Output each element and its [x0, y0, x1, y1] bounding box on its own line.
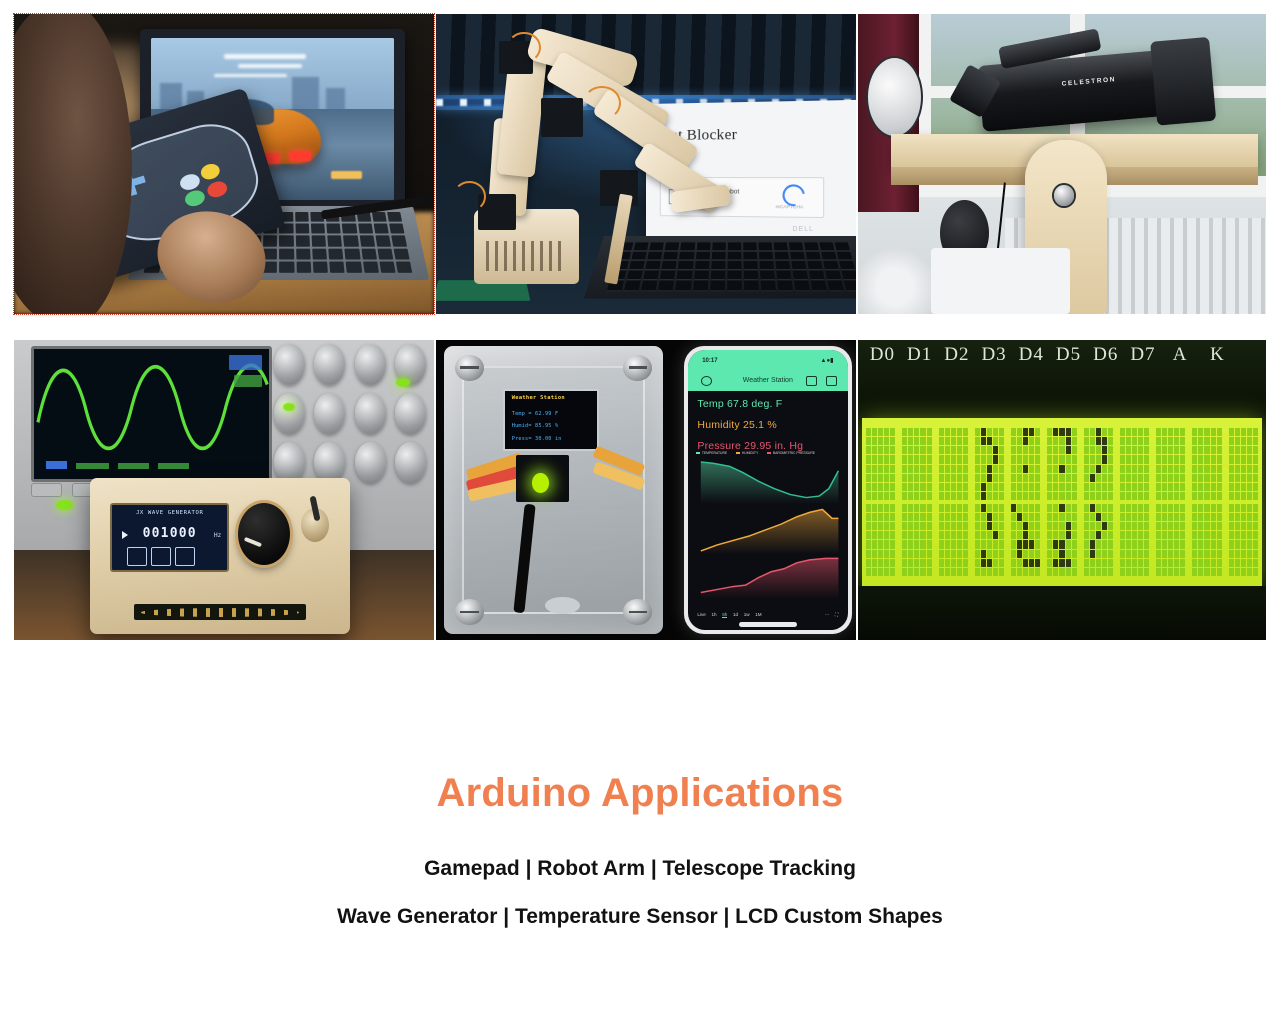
lcd-character	[1011, 428, 1040, 500]
weather-app-phone: 10:17 ▲●▮ Weather Station Temp 67.8	[684, 346, 852, 634]
ramp-wave-icon	[127, 547, 147, 566]
gallery-item-weather-station[interactable]: Weather Station Temp = 62.99 F Humid= 85…	[436, 340, 856, 640]
frequency-knob[interactable]	[238, 503, 290, 565]
sine-wave-icon	[199, 548, 217, 565]
lcd-character	[1156, 504, 1185, 576]
lcd-character	[1192, 504, 1221, 576]
lcd-title: JX WAVE GENERATOR	[112, 510, 227, 516]
gamepad-photo	[14, 14, 434, 314]
wave-generator-lcd: JX WAVE GENERATOR 001000 Hz	[110, 503, 229, 573]
weather-chart	[688, 456, 848, 604]
expand-icon[interactable]: ⛶	[835, 612, 838, 617]
lcd-frequency: 001000	[112, 526, 227, 541]
more-icon[interactable]: ⋯	[825, 612, 830, 618]
captcha-brand: reCAPTCHA	[766, 204, 812, 212]
oled-title: Weather Station	[512, 395, 565, 401]
lcd-character	[902, 504, 931, 576]
cast-icon[interactable]	[806, 376, 817, 386]
range-1d[interactable]: 1d	[733, 612, 738, 617]
home-indicator	[739, 622, 797, 626]
reading-pressure: Pressure 29.95 in. Hg	[697, 440, 803, 452]
robot-arm-photo: Bot Blocker I'm not a robot reCAPTCHA	[436, 14, 856, 314]
gallery-item-robot-arm[interactable]: Bot Blocker I'm not a robot reCAPTCHA	[436, 14, 856, 314]
lcd-custom-shapes-photo: D0 D1 D2 D3 D4 D5 D6 D7 A K	[858, 340, 1266, 640]
lcd-unit: Hz	[214, 532, 221, 539]
weather-oled: Weather Station Temp = 62.99 F Humid= 85…	[503, 389, 599, 451]
lcd-character	[902, 428, 931, 500]
photo-grid: Bot Blocker I'm not a robot reCAPTCHA	[14, 14, 1266, 640]
lcd-panel	[862, 418, 1262, 586]
pin-d1: D1	[903, 344, 936, 366]
gallery-item-lcd-shapes[interactable]: D0 D1 D2 D3 D4 D5 D6 D7 A K	[858, 340, 1266, 640]
lcd-character	[1047, 428, 1076, 500]
app-title: Weather Station	[743, 377, 793, 384]
toggle-switch[interactable]	[301, 508, 330, 542]
reading-humidity: Humidity 25.1 %	[697, 419, 777, 431]
lcd-character	[975, 428, 1004, 500]
back-icon[interactable]	[701, 376, 712, 386]
pin-d6: D6	[1089, 344, 1122, 366]
pin-k: K	[1201, 344, 1234, 366]
page-root: Bot Blocker I'm not a robot reCAPTCHA	[0, 0, 1280, 1024]
caption-block: Arduino Applications Gamepad | Robot Arm…	[0, 770, 1280, 927]
menu-icon[interactable]	[826, 376, 837, 386]
pin-d7: D7	[1127, 344, 1160, 366]
weather-station-photo: Weather Station Temp = 62.99 F Humid= 85…	[436, 340, 856, 640]
lcd-character	[1229, 504, 1258, 576]
caption-line-1: Gamepad | Robot Arm | Telescope Tracking	[0, 858, 1280, 879]
range-1h[interactable]: 1h	[711, 612, 716, 617]
oled-humidity: Humid= 85.95 %	[512, 423, 559, 429]
pin-a: A	[1164, 344, 1197, 366]
pin-d2: D2	[941, 344, 974, 366]
lcd-character	[1011, 504, 1040, 576]
wave-generator-enclosure: JX WAVE GENERATOR 001000 Hz	[90, 478, 350, 634]
laptop-brand: DELL	[792, 226, 814, 233]
lcd-character	[939, 504, 968, 576]
lcd-character	[1084, 504, 1113, 576]
lcd-character	[1120, 504, 1149, 576]
status-icons: ▲●▮	[821, 357, 834, 364]
pin-d0: D0	[866, 344, 899, 366]
pin-d4: D4	[1015, 344, 1048, 366]
telescope-brand: CELESTRON	[1062, 77, 1117, 89]
pin-d5: D5	[1052, 344, 1085, 366]
pin-d3: D3	[978, 344, 1011, 366]
oled-pressure: Press= 30.00 in	[512, 436, 562, 442]
chart-legend: TEMPERATURE HUMIDITY BAROMETRIC PRESSURE	[696, 451, 840, 455]
gallery-item-gamepad[interactable]	[14, 14, 434, 314]
lcd-character	[1120, 428, 1149, 500]
lcd-character-grid	[866, 428, 1258, 576]
lcd-character	[1192, 428, 1221, 500]
range-1m[interactable]: 1M	[755, 612, 761, 617]
wave-generator-photo: JX WAVE GENERATOR 001000 Hz	[14, 340, 434, 640]
lcd-character	[1229, 428, 1258, 500]
status-time: 10:17	[702, 358, 717, 364]
noise-wave-icon	[151, 547, 171, 566]
range-live[interactable]: Live	[697, 612, 705, 617]
lcd-character	[866, 428, 895, 500]
dc-offset-icon	[175, 547, 195, 566]
telescope-tracking-photo: CELESTRON	[858, 14, 1266, 314]
lcd-character	[975, 504, 1004, 576]
lcd-character	[939, 428, 968, 500]
lcd-character	[1156, 428, 1185, 500]
lcd-character	[1084, 428, 1113, 500]
range-6h[interactable]: 6h	[722, 612, 727, 618]
lcd-character	[866, 504, 895, 576]
page-title: Arduino Applications	[0, 770, 1280, 816]
lcd-character	[1047, 504, 1076, 576]
time-range-tabs[interactable]: Live 1h 6h 1d 1w 1M ⋯ ⛶	[688, 608, 848, 622]
range-1w[interactable]: 1w	[744, 612, 750, 617]
gallery-item-telescope[interactable]: CELESTRON	[858, 14, 1266, 314]
reading-temperature: Temp 67.8 deg. F	[697, 398, 782, 410]
gallery-item-wave-generator[interactable]: JX WAVE GENERATOR 001000 Hz	[14, 340, 434, 640]
lcd-pin-labels: D0 D1 D2 D3 D4 D5 D6 D7 A K	[858, 340, 1266, 409]
oled-temp: Temp = 62.99 F	[512, 411, 559, 417]
caption-line-2: Wave Generator | Temperature Sensor | LC…	[0, 906, 1280, 927]
